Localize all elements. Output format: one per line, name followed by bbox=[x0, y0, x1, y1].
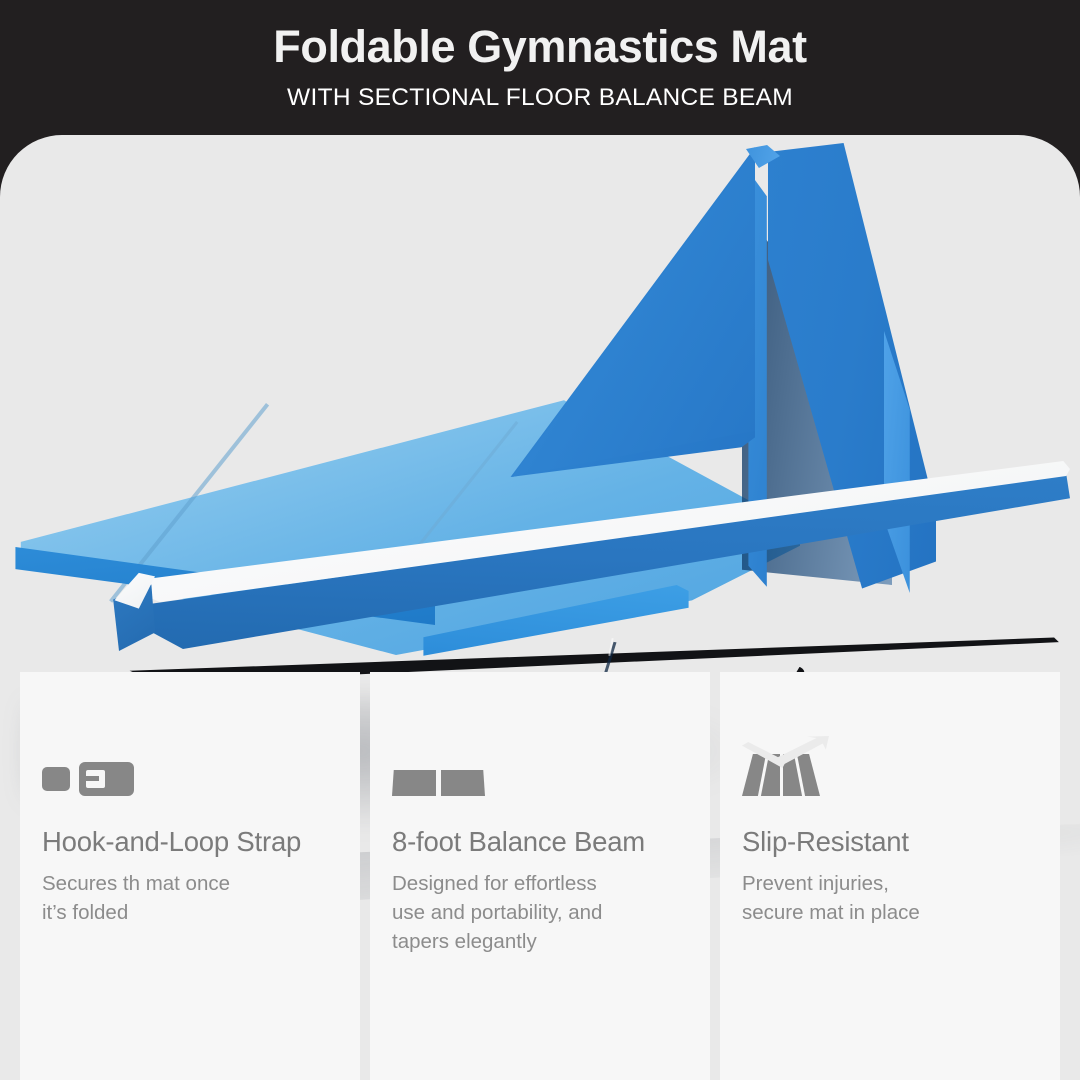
feature-card-description: Prevent injuries, secure mat in place bbox=[742, 869, 1040, 927]
feature-card-description: Secures th mat once it’s folded bbox=[42, 869, 340, 927]
balance-beam bbox=[110, 451, 1070, 671]
feature-card-title: Slip-Resistant bbox=[742, 826, 1040, 858]
slip-resistant-mat-icon bbox=[742, 734, 1040, 796]
page-title: Foldable Gymnastics Mat bbox=[273, 23, 806, 72]
hook-and-loop-strap-icon bbox=[42, 734, 340, 796]
infographic-page: Foldable Gymnastics Mat WITH SECTIONAL F… bbox=[0, 0, 1080, 1080]
header-banner: Foldable Gymnastics Mat WITH SECTIONAL F… bbox=[0, 0, 1080, 136]
feature-card-balance-beam: 8-foot Balance Beam Designed for effortl… bbox=[370, 672, 710, 1080]
balance-beam-sections-icon bbox=[392, 734, 690, 796]
feature-card-hook-and-loop-strap: Hook-and-Loop Strap Secures th mat once … bbox=[20, 672, 360, 1080]
feature-cards: Hook-and-Loop Strap Secures th mat once … bbox=[0, 672, 1080, 1080]
feature-card-description: Designed for effortless use and portabil… bbox=[392, 869, 690, 956]
feature-card-slip-resistant: Slip-Resistant Prevent injuries, secure … bbox=[720, 672, 1060, 1080]
feature-card-title: Hook-and-Loop Strap bbox=[42, 826, 340, 858]
feature-card-title: 8-foot Balance Beam bbox=[392, 826, 690, 858]
hero-panel: Hook-and-Loop Strap Secures th mat once … bbox=[0, 135, 1080, 1080]
product-image bbox=[0, 135, 1080, 675]
page-subtitle: WITH SECTIONAL FLOOR BALANCE BEAM bbox=[287, 84, 793, 112]
